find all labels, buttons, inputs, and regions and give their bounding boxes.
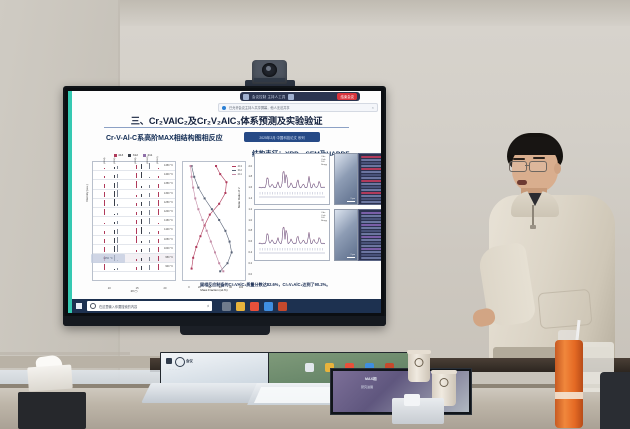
xrd-peak [117,213,118,216]
slide-badge-label: 2025年2月 中国科技论文 系列 [259,135,304,140]
haadf-atomic-row [361,257,381,259]
xrd-peak [158,209,159,216]
display-screen[interactable]: 三、Cr₂VAlC₂及Cr₂V₂AlC₃体系预测及实验验证 Cr-V-Al-C系… [68,91,381,313]
xrd-row-label: 950 °C [165,256,173,259]
slide-badge: 2025年2月 中国科技论文 系列 [244,132,320,142]
xrd-trace-row: 1000 °C [93,245,175,254]
xrd-peak [104,223,105,225]
desktop-icon-1[interactable] [305,363,314,372]
xrd-row-label: 1450 °C [164,164,173,167]
app-logo-icon [166,358,172,364]
laptop-left-title: 会议 [186,358,193,363]
taskbar-app-icons[interactable] [222,302,287,311]
xrd-row-label: 1400 °C [164,173,173,176]
xrd-peak [158,239,159,243]
xrd-trace-row: 1150 °C [93,217,175,226]
molar-chart-plot [183,162,245,280]
xrd-peak [104,176,105,179]
xrd-row-label: 1300 °C [164,192,173,195]
share-icon[interactable] [243,94,249,100]
xrd-peak [114,175,115,179]
ytick: 0.2 [249,262,252,265]
xrd-peak [141,172,142,179]
xrd-peak [158,256,159,262]
xrd-peak [104,209,105,216]
xrd-ylabel: Intensity (a.u.) [85,184,89,202]
notification-text: 已允许会议主持人共享屏幕，他人无法共享 [229,105,290,110]
xrd-peak [141,266,142,271]
xrd-trace-row: 1300 °C [93,190,175,199]
xrd-peak [136,228,137,234]
meeting-toolbar[interactable]: 会议控制 主持人工具 结束会议 [240,92,360,101]
xrd-peak [104,184,105,188]
xrd-peak [114,269,115,271]
paper-holder-tab [404,394,420,406]
legend-item-413: 413 [114,153,124,157]
ytick: 1.6 [249,186,252,189]
xrd-peak [158,264,159,271]
molar-chart-ylabel: Molar Ratio of V [237,187,241,208]
conference-room-scene: 三、Cr₂VAlC₂及Cr₂V₂AlC₃体系预测及实验验证 Cr-V-Al-C系… [0,0,630,429]
ytick: 1.0 [249,219,252,222]
xrd-stacked-chart: 1450 °C1400 °C1350 °C1300 °C1250 °C1200 … [92,161,176,281]
xrd-peak [141,211,142,216]
xrd-peak [117,190,118,197]
xrd-row-label: 1050 °C [164,238,173,241]
sem-micrograph-a: 2 μm [334,153,358,205]
xrd-peak [141,164,142,170]
xrd-peak [158,168,159,170]
xrd-peak [136,250,137,252]
xrd-peak [149,248,150,252]
xrd-peak [104,239,105,243]
close-icon[interactable]: × [372,105,374,110]
xrd-peak [158,184,159,188]
xrd-peak [104,200,105,206]
molar-ratio-chart: 413 312 211 0.00.20.40.60.81.01.21.41.61… [182,161,246,281]
xrd-peak [114,183,115,188]
dark-equipment-box [18,392,86,429]
xrd-row-label: 1000 °C [164,247,173,250]
xrd-row-label: 1200 °C [164,210,173,213]
second-display-title: MAX相 [365,377,377,382]
xrd-peak [117,174,118,179]
slide-footer-note: 固相反应制备的Cr₂VAlC₂质量分数达82.6%，Cr₂V₂AlC₃达到了90… [200,282,378,288]
haadf-image-a [358,153,381,205]
xrd-row-label: 1150 °C [164,219,173,222]
back-counter [0,356,170,368]
xrd-peak [117,229,118,234]
ytick: 1.4 [249,197,252,200]
xrd-trace-row: 1250 °C [93,199,175,208]
xrd-highlight-label: 1450 °C [91,254,125,263]
laptop-left-subtitle: · · · · · · · · [169,368,180,371]
ytick: 1.8 [249,175,252,178]
slide-subtitle: Cr-V-Al-C系高阶MAX相结构图相反应 [106,133,223,143]
xrd-peak [136,212,137,216]
xrd-peak [117,237,118,243]
xrd-peak [141,241,142,243]
xrd-peak [149,240,150,243]
powerpoint-icon[interactable] [278,302,287,311]
haadf-image-b [358,209,381,261]
xrd-b-legend: Obs. Calc. Diff. Bragg [321,212,327,222]
end-meeting-button[interactable]: 结束会议 [337,93,357,100]
xrd-peak [117,221,118,225]
microphone-icon[interactable]: ♯ [207,304,209,308]
xrd-peak [136,165,137,170]
xrd-peak [158,200,159,206]
xrd-trace-row: 1350 °C [93,180,175,189]
xrd-peak [158,231,159,234]
xrd-peak [117,166,118,170]
xrd-peak [149,193,150,197]
wall-seam [0,352,130,355]
xrd-peak [149,177,150,179]
xrd-peak [141,258,142,262]
xrd-peak [104,192,105,197]
orange-drink-bottle [555,340,583,428]
presentation-slide: 三、Cr₂VAlC₂及Cr₂V₂AlC₃体系预测及实验验证 Cr-V-Al-C系… [72,91,381,299]
xrd-trace-row: 1050 °C [93,236,175,245]
ytick: 1.2 [249,208,252,211]
xrd-peak [149,232,150,234]
molar-chart-xlabel: Mass Fraction (wt.%) [183,288,245,292]
xrd-peak [136,181,137,188]
ring-logo-icon [175,357,185,367]
search-placeholder: 在这里输入你要搜索的内容 [99,304,137,309]
slide-title-prefix: 三、 [131,116,149,126]
xrd-trace-row: 1100 °C [93,226,175,235]
xrd-peak [136,173,137,179]
xrd-peak [141,219,142,225]
xrd-peak [158,192,159,197]
xrd-peak [114,222,115,225]
xrd-peak [136,259,137,262]
ytick: 0.6 [249,240,252,243]
ytick: 0.0 [249,273,252,276]
presenter [487,133,622,363]
windows-taskbar[interactable]: 在这里输入你要搜索的内容 ♯ [72,299,381,313]
xrd-peak [149,185,150,188]
xrd-peak [117,204,118,206]
title-divider [104,127,349,128]
coffee-cup-back [408,352,430,382]
display-stand [180,326,270,335]
xrd-peak [158,223,159,225]
xrd-row-label: 900 °C [165,265,173,268]
xrd-row-label: 1350 °C [164,182,173,185]
people-icon[interactable] [288,94,294,100]
xrd-row-label: 1250 °C [164,201,173,204]
xrd-peak [114,246,115,252]
xrd-trace-row: 1400 °C [93,171,175,180]
browser-icon[interactable] [250,302,259,311]
haadf-atomic-row [361,201,381,203]
xrd-trace-row: 1200 °C [93,208,175,217]
xrd-phase-label: (0006) [114,158,116,164]
wall-display: 三、Cr₂VAlC₂及Cr₂V₂AlC₃体系预测及实验验证 Cr-V-Al-C系… [63,86,386,326]
search-input[interactable]: 在这里输入你要搜索的内容 ♯ [87,301,212,311]
sem-micrograph-b: 2 μm [334,209,358,261]
xrd-peak [141,186,142,188]
xrd-peak [114,214,115,216]
xrd-phase-label: (0008) [135,158,137,164]
legend-item-312: 312 [128,153,138,157]
xrd-peak [136,220,137,225]
xrd-peak [136,267,137,271]
xrd-peak [114,230,115,234]
search-icon [90,303,96,309]
display-chin [63,316,386,326]
sem-a-scalebar: 2 μm [351,198,356,200]
slide-title-text: Cr₂VAlC₂及Cr₂V₂AlC₃体系预测及实验验证 [149,116,322,126]
xrd-peak [114,199,115,206]
xrd-peak [149,218,150,225]
xrd-peak [158,247,159,252]
eyeglasses-icon [509,161,555,170]
xrd-refinement-chart-a: Obs. Calc. Diff. Bragg [254,153,330,205]
xrd-phase-label: (00012) [157,156,159,164]
xrd-peak [136,203,137,206]
xrd-trace-row: 900 °C [93,263,175,272]
xrd-refinement-chart-b: Obs. Calc. Diff. Bragg [254,209,330,261]
xrd-peak [114,167,115,170]
xrd-peak [117,268,118,271]
tissue-box [27,364,73,391]
xrd-peak [114,191,115,197]
xrd-peak [104,264,105,271]
xrd-a-legend: Obs. Calc. Diff. Bragg [321,156,327,166]
share-notification: 已允许会议主持人共享屏幕，他人无法共享 × [218,103,378,112]
xrd-peak [136,236,137,243]
task-view-icon[interactable] [222,302,231,311]
xrd-peak [104,168,105,170]
file-explorer-icon[interactable] [236,302,245,311]
xrd-peak [117,182,118,188]
xrd-peak [141,249,142,252]
xrd-peak [136,195,137,197]
chair-back [600,372,630,429]
second-display-subtitle: 研究进展 [361,385,373,389]
xrd-phase-label: (0004) [104,158,106,164]
info-dot-icon [222,106,226,110]
sem-b-scalebar: 2 μm [351,254,356,256]
start-button[interactable] [72,299,85,313]
xrd-peak [117,245,118,252]
ytick: 2.0 [249,165,252,168]
slide-title: 三、Cr₂VAlC₂及Cr₂V₂AlC₃体系预测及实验验证 [72,113,381,127]
xrd-peak [149,257,150,262]
bottle-label-band [555,392,583,399]
xrd-phase-label: (00010) [147,156,149,164]
xrd-row-label: 1100 °C [164,228,173,231]
xrd-peak [104,231,105,234]
meeting-toolbar-label: 会议控制 主持人工具 [252,94,285,99]
xrd-peak [149,201,150,206]
xrd-peak [114,238,115,243]
xrd-peak [158,176,159,179]
xrd-peak [141,202,142,206]
xrd-legend: 413 312 211 [94,153,172,157]
xrd-peak [104,247,105,252]
ytick: 0.8 [249,229,252,232]
ytick: 0.4 [249,251,252,254]
xrd-peak [149,210,150,216]
xrd-peak [141,227,142,234]
mail-icon[interactable] [264,302,273,311]
xrd-peak [149,265,150,271]
xrd-peak [141,194,142,197]
